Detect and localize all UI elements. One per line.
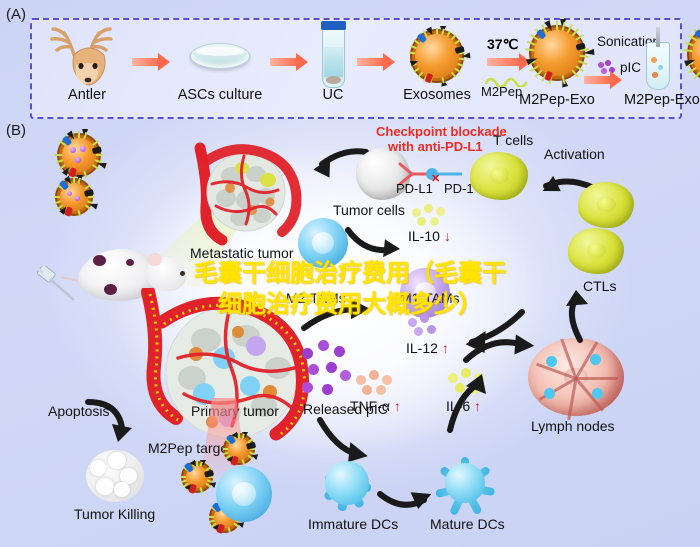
deer-antler-icon [44,25,130,87]
step-ascs-culture: ASCs culture [172,25,268,103]
peptide-spike-icon [227,527,230,532]
peptide-spike-icon [685,41,694,46]
peptide-spike-icon [446,31,451,37]
peptide-spike-icon [87,200,93,204]
t-cells-label: T cells [493,132,533,148]
peptide-spike-icon [78,131,80,138]
exosome-peptide-pic-icon [692,30,700,78]
peptide-spike-icon [535,70,542,78]
membrane-marker-icon [230,455,239,466]
immature-dc-icon [310,446,384,520]
membrane-marker-icon [188,483,197,494]
peptide-spike-icon [77,210,81,216]
petri-dish-icon [190,43,250,69]
step-ascs-culture-label: ASCs culture [172,87,268,103]
peptide-spike-icon [556,21,558,30]
membrane-marker-icon [544,71,553,82]
checkpoint-blockade-line2: with anti-PD-L1 [388,139,483,154]
membrane-marker-icon [216,523,225,534]
peptide-spike-icon [572,70,579,78]
il12-label: IL-12 ↑ [406,340,449,356]
peptide-spike-icon [88,196,94,198]
step-antler-label: Antler [44,87,130,103]
peptide-spike-icon [451,34,456,40]
peptide-spike-icon [96,154,103,156]
peptide-spike-icon [693,71,700,79]
panel-a-tag: (A) [6,6,26,23]
peptide-spike-icon [527,41,536,46]
peptide-spike-icon [580,55,589,58]
step-antler: Antler [44,25,130,103]
peptide-spike-icon [578,60,587,65]
panel-b-mechanism-diagram: Metastatic tumor Tumor cells Checkpoint … [0,118,700,547]
exosome-targeting-2 [186,466,208,488]
peptide-spike-icon [83,171,87,179]
targeted-m2-macrophage [216,466,272,522]
membrane-marker-icon [425,73,434,84]
t-cell-icon [470,152,528,200]
tnfa-text: TNF-α [350,398,390,414]
syringe-icon [36,266,82,311]
m1-tams-label: M1-TAMs [400,290,460,306]
centrifuge-tube-icon [322,24,345,88]
metastatic-tumor-icon [182,140,302,250]
peptide-spike-icon [455,68,461,73]
checkpoint-blockade-line1: Checkpoint blockade [376,124,507,139]
peptide-spike-icon [683,49,692,52]
step-m2pep-exo-pic-label: M2Pep-Exo(pIC) [624,92,700,108]
lymph-node-icon [528,338,624,416]
peptide-spike-icon [55,200,61,204]
peptide-spike-icon [451,72,456,78]
step-m2pep-exo-label: M2Pep-Exo [502,92,612,108]
tumor-cells-label: Tumor cells [333,202,405,218]
step-exosomes: Exosomes [394,25,480,103]
membrane-marker-icon [64,206,73,217]
peptide-spike-icon [241,459,244,464]
ctl-cell-1 [578,182,634,228]
peptide-spike-icon [409,52,415,55]
step-exosomes-label: Exosomes [394,87,480,103]
peptide-spike-icon [418,72,423,78]
lymph-nodes-label: Lymph nodes [531,418,615,434]
temperature-label: 37℃ [487,36,518,53]
peptide-spike-icon [525,48,534,51]
peptide-spike-icon [413,39,419,44]
peptide-spike-icon [92,140,99,146]
exosome-free-1 [62,138,96,172]
arrow-lymph-to-ctls [540,290,610,344]
peptide-spike-icon [530,65,539,72]
pd-1-label: PD-1 [444,181,474,196]
arrow-immature-to-mature-dc [378,486,440,520]
tnfa-up-arrow: ↑ [394,398,401,414]
pic-label: pIC [620,60,641,75]
arrow-maturedc-to-ctls [420,368,490,434]
figure-canvas: (A) (B) Antle [0,0,700,547]
peptide-spike-icon [55,159,63,163]
peptide-spike-icon [207,479,212,482]
peptide-spike-icon [688,67,697,74]
tnfa-label: TNF-α ↑ [350,398,401,414]
peptide-spike-icon [436,28,438,34]
peptide-spike-icon [209,516,214,518]
membrane-protein-icon [684,57,696,67]
ctl-cell-2 [568,228,624,274]
peptide-spike-icon [55,154,62,156]
tumor-killing-label: Tumor Killing [74,506,155,522]
exosome-targeting-1 [228,438,250,460]
peptide-spike-icon [181,476,186,478]
exosome-peptide-icon [534,30,580,76]
exosome-free-2 [60,183,88,211]
peptide-spike-icon [413,68,419,73]
primary-tumor-label: Primary tumor [191,403,279,419]
metastatic-tumor-label: Metastatic tumor [190,245,293,261]
step-uc: UC [310,25,356,103]
activation-label: Activation [544,146,605,162]
peptide-spike-icon [54,196,60,198]
apoptotic-cell-icon [86,450,144,502]
arrow-tumor-to-m1 [300,294,390,340]
il10-label: IL-10 ↓ [408,228,451,244]
mature-dcs-label: Mature DCs [430,516,505,532]
peptide-spike-icon [575,34,584,41]
peptide-spike-icon [457,63,463,67]
apoptosis-label: Apoptosis [48,403,109,419]
m2-tam-cell [298,218,348,268]
peptide-spike-icon [223,448,228,450]
peptide-spike-icon [572,28,579,36]
peptide-spike-icon [410,45,416,49]
sonicator-icon [646,42,670,90]
peptide-spike-icon [455,39,461,44]
peptide-spike-icon [459,58,465,61]
peptide-spike-icon [575,65,584,72]
peptide-spike-icon [567,24,573,33]
membrane-protein-icon [410,58,420,66]
arrow-to-lymph-node [462,330,542,372]
arrow-m2tams-to-il10 [344,224,414,266]
panel-a-preparation-workflow: Antler ASCs culture UC [30,18,682,119]
peptide-spike-icon [199,487,202,492]
peptide-spike-icon [249,451,254,454]
il10-down-arrow: ↓ [444,228,451,244]
pd-l1-label: PD-L1 [396,181,433,196]
exosome-icon [415,34,459,78]
il12-text: IL-12 [406,340,438,356]
step-uc-label: UC [310,87,356,103]
primary-tumor-icon [128,288,318,458]
